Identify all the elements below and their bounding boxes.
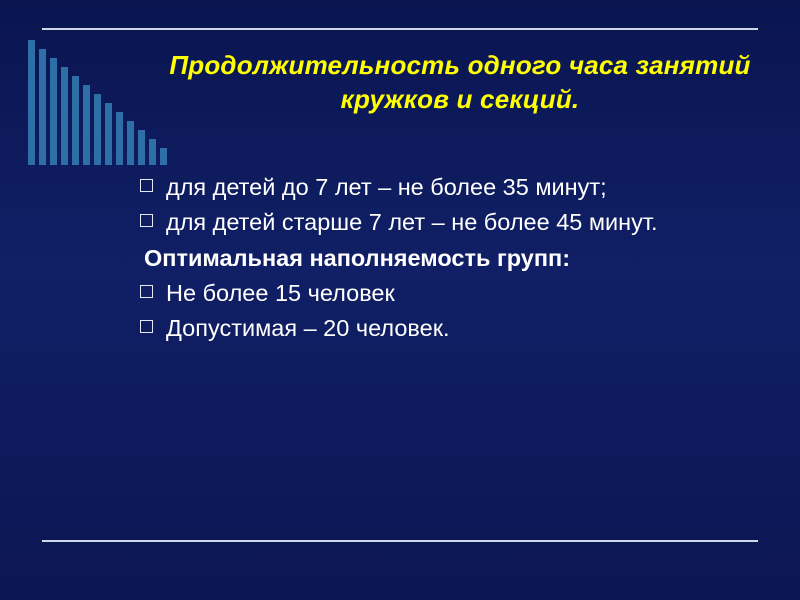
square-bullet-icon	[140, 313, 166, 333]
slide-title: Продолжительность одного часа занятий кр…	[150, 48, 770, 117]
square-bullet-icon	[140, 172, 166, 192]
list-item-label: Не более 15 человек	[166, 278, 770, 309]
list-item: для детей до 7 лет – не более 35 минут;	[140, 172, 770, 203]
bottom-divider	[42, 540, 758, 542]
list-item-label: для детей до 7 лет – не более 35 минут;	[166, 172, 770, 203]
list-item-label: Допустимая – 20 человек.	[166, 313, 770, 344]
square-bullet-icon	[140, 207, 166, 227]
top-divider	[42, 28, 758, 30]
subheading: Оптимальная наполняемость групп:	[144, 243, 770, 274]
slide-body: для детей до 7 лет – не более 35 минут; …	[140, 172, 770, 348]
list-item-label: для детей старше 7 лет – не более 45 мин…	[166, 207, 770, 238]
list-item: Допустимая – 20 человек.	[140, 313, 770, 344]
square-bullet-icon	[140, 278, 166, 298]
list-item: Не более 15 человек	[140, 278, 770, 309]
list-item: для детей старше 7 лет – не более 45 мин…	[140, 207, 770, 238]
slide: Продолжительность одного часа занятий кр…	[0, 0, 800, 600]
